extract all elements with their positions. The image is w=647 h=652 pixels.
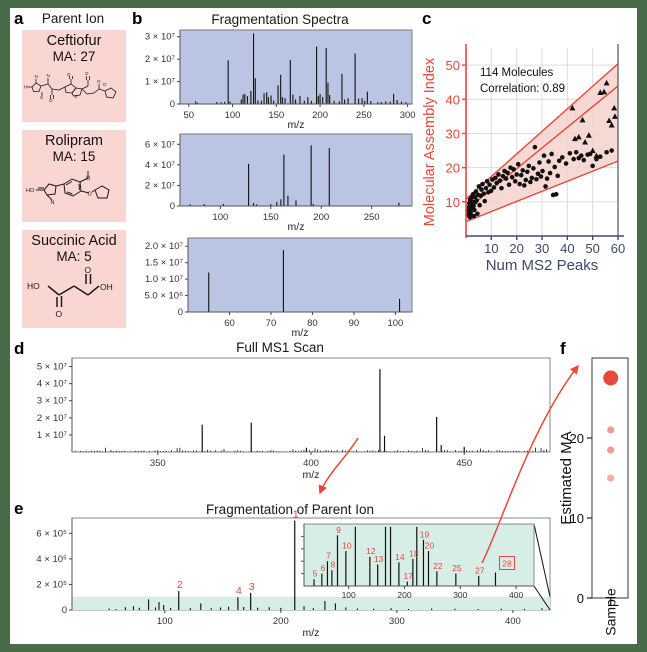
arrow-e-to-f — [482, 366, 578, 563]
figure-canvas: a Parent Ion Ceftiofur MA: 27 — [10, 8, 637, 644]
figure-root: a Parent Ion Ceftiofur MA: 27 — [0, 0, 647, 652]
connector-arrows — [10, 8, 637, 644]
arrow-d-to-e — [320, 438, 358, 493]
